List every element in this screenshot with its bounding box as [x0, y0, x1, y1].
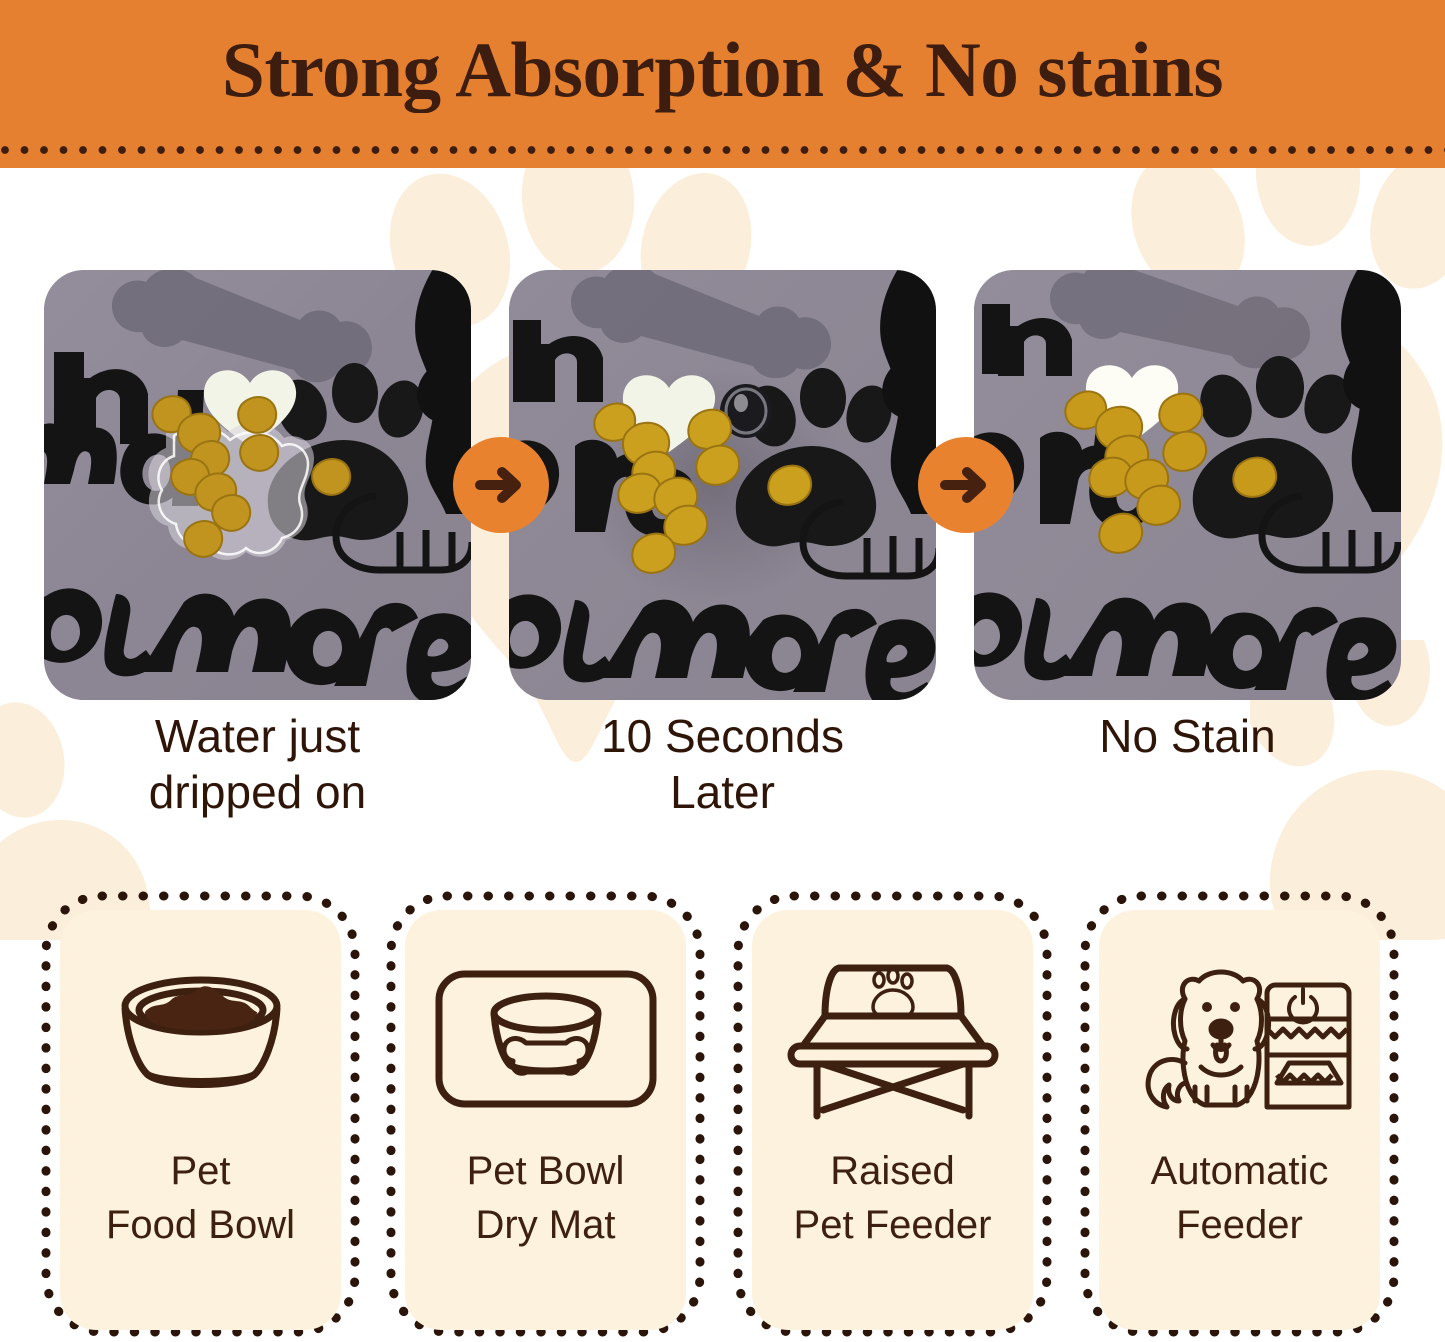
mat-photo-3: [974, 270, 1401, 700]
feeder-unit-glyph: [1267, 985, 1349, 1107]
card-label: Automatic Feeder: [1151, 1144, 1329, 1252]
demo-captions: Water just dripped on 10 Seconds Later N…: [44, 708, 1401, 838]
card-body: Pet Bowl Dry Mat: [405, 910, 686, 1330]
card-body: Automatic Feeder: [1099, 910, 1380, 1330]
use-case-cards: Pet Food Bowl: [38, 888, 1410, 1340]
card-label: Pet Bowl Dry Mat: [467, 1144, 625, 1252]
card-body: Raised Pet Feeder: [752, 910, 1033, 1330]
page-title: Strong Absorption & No stains: [7, 28, 1438, 112]
raised-pet-feeder-icon: [783, 944, 1003, 1134]
demo-photo-10-seconds-later: [509, 270, 936, 700]
dog-glyph: [1148, 972, 1268, 1107]
mat-photo-1: [44, 270, 471, 700]
right-arrow-icon: [939, 458, 993, 512]
use-case-card-pet-bowl-dry-mat[interactable]: Pet Bowl Dry Mat: [383, 888, 708, 1340]
demo-photo-water-dripped: [44, 270, 471, 700]
infographic-page: Strong Absorption & No stains: [0, 0, 1445, 1342]
demo-photo-no-stain: [974, 270, 1401, 700]
automatic-feeder-icon: [1125, 944, 1355, 1134]
card-body: Pet Food Bowl: [60, 910, 341, 1330]
caption-no-stain: No Stain: [974, 708, 1401, 764]
arrow-badge-2: [918, 437, 1014, 533]
use-case-card-pet-food-bowl[interactable]: Pet Food Bowl: [38, 888, 363, 1340]
header-banner: Strong Absorption & No stains: [0, 0, 1445, 168]
right-arrow-icon: [474, 458, 528, 512]
card-label: Pet Food Bowl: [106, 1144, 295, 1252]
pet-bowl-dry-mat-icon: [434, 944, 658, 1134]
card-label: Raised Pet Feeder: [794, 1144, 992, 1252]
pet-food-bowl-icon: [101, 944, 301, 1134]
paw-glyph: [873, 969, 913, 1017]
caption-10-seconds-later: 10 Seconds Later: [509, 708, 936, 820]
caption-water-dripped: Water just dripped on: [44, 708, 471, 820]
use-case-card-raised-pet-feeder[interactable]: Raised Pet Feeder: [730, 888, 1055, 1340]
arrow-badge-1: [453, 437, 549, 533]
mat-photo-2: [509, 270, 936, 700]
header-dotted-divider: [0, 144, 1445, 156]
use-case-card-automatic-feeder[interactable]: Automatic Feeder: [1077, 888, 1402, 1340]
absorption-demo-strip: [44, 270, 1401, 700]
